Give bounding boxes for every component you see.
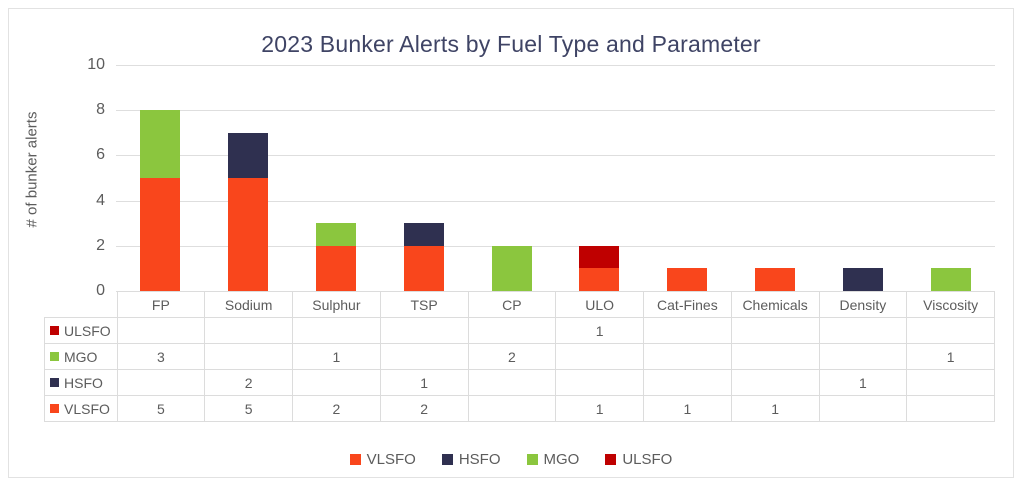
table-cell — [205, 344, 293, 370]
table-cell — [117, 318, 205, 344]
bar-slot — [292, 65, 380, 291]
table-cell: 1 — [380, 370, 468, 396]
bar-segment-hsfo[interactable] — [404, 223, 444, 246]
series-color-swatch-icon — [50, 378, 59, 387]
table-cell — [644, 344, 732, 370]
table-cell: 2 — [380, 396, 468, 422]
legend-color-swatch-icon — [442, 454, 453, 465]
bar-stack-cp[interactable] — [492, 246, 532, 291]
bar-stack-density[interactable] — [843, 268, 883, 291]
table-cell — [907, 318, 995, 344]
legend-item-mgo[interactable]: MGO — [527, 451, 580, 468]
bar-segment-vlsfo[interactable] — [140, 178, 180, 291]
bar-slot — [731, 65, 819, 291]
y-axis-title: # of bunker alerts — [24, 85, 41, 255]
table-row-header: MGO — [45, 344, 118, 370]
table-cell — [819, 396, 907, 422]
bar-segment-mgo[interactable] — [492, 246, 532, 291]
chart-card: 2023 Bunker Alerts by Fuel Type and Para… — [8, 8, 1014, 478]
table-cell: 1 — [819, 370, 907, 396]
table-cell: 5 — [205, 396, 293, 422]
table-cell — [731, 344, 819, 370]
legend-item-hsfo[interactable]: HSFO — [442, 451, 501, 468]
table-cell: 1 — [556, 318, 644, 344]
legend-item-label: MGO — [544, 451, 580, 468]
bar-stack-viscosity[interactable] — [931, 268, 971, 291]
series-color-swatch-icon — [50, 352, 59, 361]
table-body: ULSFO1MGO3121HSFO211VLSFO5522111 — [45, 318, 995, 422]
legend-color-swatch-icon — [350, 454, 361, 465]
table-row-label: VLSFO — [64, 401, 110, 417]
table-cell — [819, 344, 907, 370]
table-cell — [205, 318, 293, 344]
table-col-header: FP — [117, 292, 205, 318]
bar-stack-ulo[interactable] — [579, 246, 619, 291]
table-row-header: ULSFO — [45, 318, 118, 344]
table-head: FPSodiumSulphurTSPCPULOCat-FinesChemical… — [45, 292, 995, 318]
series-color-swatch-icon — [50, 326, 59, 335]
bar-stack-cat-fines[interactable] — [667, 268, 707, 291]
y-tick-label: 10 — [65, 56, 105, 74]
table-col-header: Sulphur — [293, 292, 381, 318]
table-cell — [380, 344, 468, 370]
bar-slot — [468, 65, 556, 291]
table-cell — [644, 318, 732, 344]
bar-slot — [643, 65, 731, 291]
bar-series-group — [116, 65, 995, 291]
bar-segment-vlsfo[interactable] — [579, 268, 619, 291]
table-cell — [644, 370, 732, 396]
table-cell: 1 — [293, 344, 381, 370]
table-cell — [907, 396, 995, 422]
legend-item-label: VLSFO — [367, 451, 416, 468]
y-tick-label: 6 — [65, 146, 105, 164]
bar-segment-vlsfo[interactable] — [755, 268, 795, 291]
table-row: VLSFO5522111 — [45, 396, 995, 422]
data-table: FPSodiumSulphurTSPCPULOCat-FinesChemical… — [44, 291, 995, 422]
bar-stack-chemicals[interactable] — [755, 268, 795, 291]
bar-segment-mgo[interactable] — [316, 223, 356, 246]
table-cell — [293, 370, 381, 396]
table-row-header: VLSFO — [45, 396, 118, 422]
table-col-header: TSP — [380, 292, 468, 318]
bar-slot — [556, 65, 644, 291]
table-col-header: Viscosity — [907, 292, 995, 318]
table-row: ULSFO1 — [45, 318, 995, 344]
table-cell — [556, 344, 644, 370]
y-tick-label: 2 — [65, 237, 105, 255]
table-col-header: Chemicals — [731, 292, 819, 318]
table-cell: 1 — [907, 344, 995, 370]
table-cell: 1 — [731, 396, 819, 422]
table-header-row: FPSodiumSulphurTSPCPULOCat-FinesChemical… — [45, 292, 995, 318]
bar-segment-hsfo[interactable] — [228, 133, 268, 178]
legend-item-label: ULSFO — [622, 451, 672, 468]
table-cell: 3 — [117, 344, 205, 370]
bar-segment-mgo[interactable] — [931, 268, 971, 291]
bar-segment-vlsfo[interactable] — [404, 246, 444, 291]
table-row-label: HSFO — [64, 375, 103, 391]
table-row: HSFO211 — [45, 370, 995, 396]
table-cell — [907, 370, 995, 396]
bar-stack-sulphur[interactable] — [316, 223, 356, 291]
table-cell — [468, 318, 556, 344]
table-cell: 1 — [556, 396, 644, 422]
legend-item-ulsfo[interactable]: ULSFO — [605, 451, 672, 468]
table-row-label: MGO — [64, 349, 97, 365]
table-cell: 2 — [468, 344, 556, 370]
table-cell — [468, 396, 556, 422]
legend-color-swatch-icon — [527, 454, 538, 465]
bar-stack-sodium[interactable] — [228, 133, 268, 291]
bar-stack-tsp[interactable] — [404, 223, 444, 291]
legend-item-vlsfo[interactable]: VLSFO — [350, 451, 416, 468]
table-col-header: Sodium — [205, 292, 293, 318]
bar-segment-vlsfo[interactable] — [667, 268, 707, 291]
page-title: 2023 Bunker Alerts by Fuel Type and Para… — [9, 31, 1013, 58]
y-tick-label: 4 — [65, 192, 105, 210]
table-cell: 5 — [117, 396, 205, 422]
bar-segment-vlsfo[interactable] — [316, 246, 356, 291]
table-row-header: HSFO — [45, 370, 118, 396]
table-col-header: CP — [468, 292, 556, 318]
table-cell — [117, 370, 205, 396]
table-col-header: Density — [819, 292, 907, 318]
plot-area — [116, 65, 995, 291]
table-cell — [731, 318, 819, 344]
legend: VLSFOHSFOMGOULSFO — [9, 451, 1013, 468]
table-col-header: Cat-Fines — [644, 292, 732, 318]
table-cell — [819, 318, 907, 344]
table-col-header: ULO — [556, 292, 644, 318]
table-cell: 2 — [205, 370, 293, 396]
legend-item-label: HSFO — [459, 451, 501, 468]
bar-slot — [907, 65, 995, 291]
table-corner-cell — [45, 292, 118, 318]
table-cell — [293, 318, 381, 344]
bar-segment-hsfo[interactable] — [843, 268, 883, 291]
bar-slot — [204, 65, 292, 291]
bar-slot — [380, 65, 468, 291]
y-tick-label: 8 — [65, 101, 105, 119]
bar-slot — [116, 65, 204, 291]
bar-segment-mgo[interactable] — [140, 110, 180, 178]
table-cell — [380, 318, 468, 344]
series-color-swatch-icon — [50, 404, 59, 413]
table-cell: 2 — [293, 396, 381, 422]
bar-segment-vlsfo[interactable] — [228, 178, 268, 291]
legend-color-swatch-icon — [605, 454, 616, 465]
table-row-label: ULSFO — [64, 323, 111, 339]
table-cell — [468, 370, 556, 396]
table-cell — [556, 370, 644, 396]
bar-stack-fp[interactable] — [140, 110, 180, 291]
table-cell: 1 — [644, 396, 732, 422]
bar-slot — [819, 65, 907, 291]
bar-segment-ulsfo[interactable] — [579, 246, 619, 269]
table-cell — [731, 370, 819, 396]
table-row: MGO3121 — [45, 344, 995, 370]
